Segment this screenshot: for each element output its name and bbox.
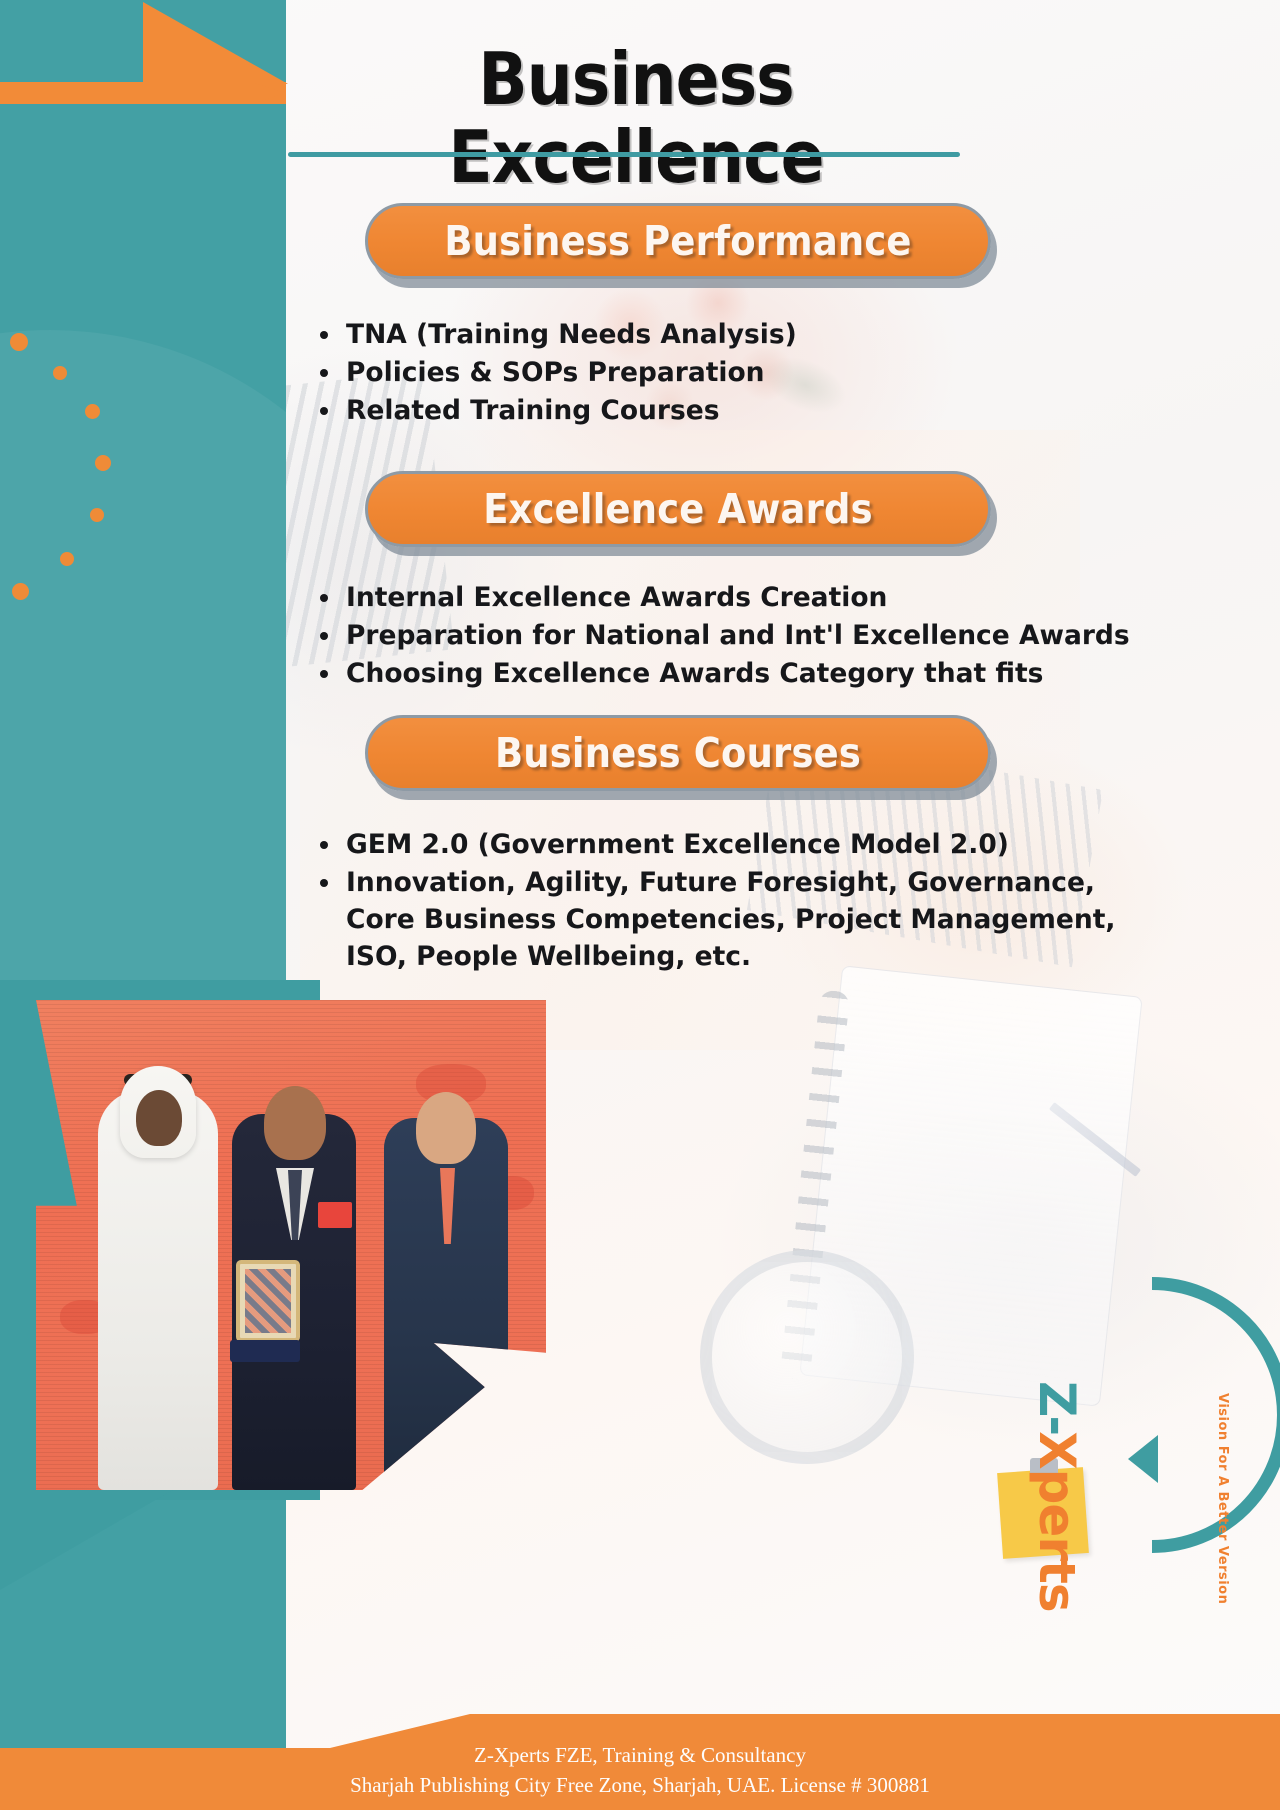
logo-wordmark-z: Z- <box>1028 1381 1086 1431</box>
bullet-list-business-courses: GEM 2.0 (Government Excellence Model 2.0… <box>300 826 1116 976</box>
photo-trophy-base <box>230 1340 300 1362</box>
footer-company-line: Z-Xperts FZE, Training & Consultancy <box>474 1740 806 1770</box>
arrow-bar-decoration <box>0 82 286 104</box>
logo-wordmark: Z-Xperts <box>1028 1381 1086 1612</box>
list-item: Preparation for National and Int'l Excel… <box>346 617 1146 654</box>
logo-book-icon <box>1128 1435 1158 1483</box>
decorative-dot <box>85 404 100 419</box>
decorative-dot <box>60 552 74 566</box>
decorative-dot <box>90 508 104 522</box>
list-item: Choosing Excellence Awards Category that… <box>346 655 1146 692</box>
list-item: Internal Excellence Awards Creation <box>346 579 1146 616</box>
arrow-head-icon <box>143 2 288 84</box>
photo-trophy-pattern <box>245 1269 291 1333</box>
section-pill-business-performance[interactable]: Business Performance <box>365 203 991 279</box>
brand-logo: Z-Xperts Vision For A Better Version <box>1122 1285 1272 1575</box>
photo-person-left-face <box>136 1090 182 1146</box>
pill-label: Excellence Awards <box>483 485 873 533</box>
bullet-list-business-performance: TNA (Training Needs Analysis) Policies &… <box>300 316 1106 430</box>
title-underline <box>288 152 960 157</box>
arrow-tip-icon <box>252 82 286 104</box>
list-item: TNA (Training Needs Analysis) <box>346 316 1106 353</box>
pill-label: Business Performance <box>444 217 911 265</box>
background-lens-image <box>700 1250 914 1464</box>
page-title: Business Excellence <box>286 40 986 196</box>
section-pill-excellence-awards[interactable]: Excellence Awards <box>365 471 991 547</box>
photo-person-center-badge <box>318 1202 352 1228</box>
decorative-dot <box>95 455 111 471</box>
photo-person-center-head <box>264 1086 326 1160</box>
list-item: GEM 2.0 (Government Excellence Model 2.0… <box>346 826 1116 863</box>
decorative-dot <box>10 333 28 351</box>
logo-tagline: Vision For A Better Version <box>1215 1393 1230 1604</box>
photo-trophy <box>236 1260 300 1342</box>
list-item: Innovation, Agility, Future Foresight, G… <box>346 864 1116 975</box>
list-item: Related Training Courses <box>346 392 1106 429</box>
footer-address-line: Sharjah Publishing City Free Zone, Sharj… <box>350 1770 930 1800</box>
bullet-list-excellence-awards: Internal Excellence Awards Creation Prep… <box>300 579 1146 693</box>
list-item: Policies & SOPs Preparation <box>346 354 1106 391</box>
photo-person-right-head <box>416 1092 476 1164</box>
logo-wordmark-rest: Xperts <box>1028 1431 1086 1612</box>
section-pill-business-courses[interactable]: Business Courses <box>365 715 991 791</box>
decorative-dot <box>53 366 67 380</box>
pill-label: Business Courses <box>495 729 861 777</box>
poster-canvas: Business Excellence Business Performance… <box>0 0 1280 1810</box>
decorative-dot <box>12 583 29 600</box>
